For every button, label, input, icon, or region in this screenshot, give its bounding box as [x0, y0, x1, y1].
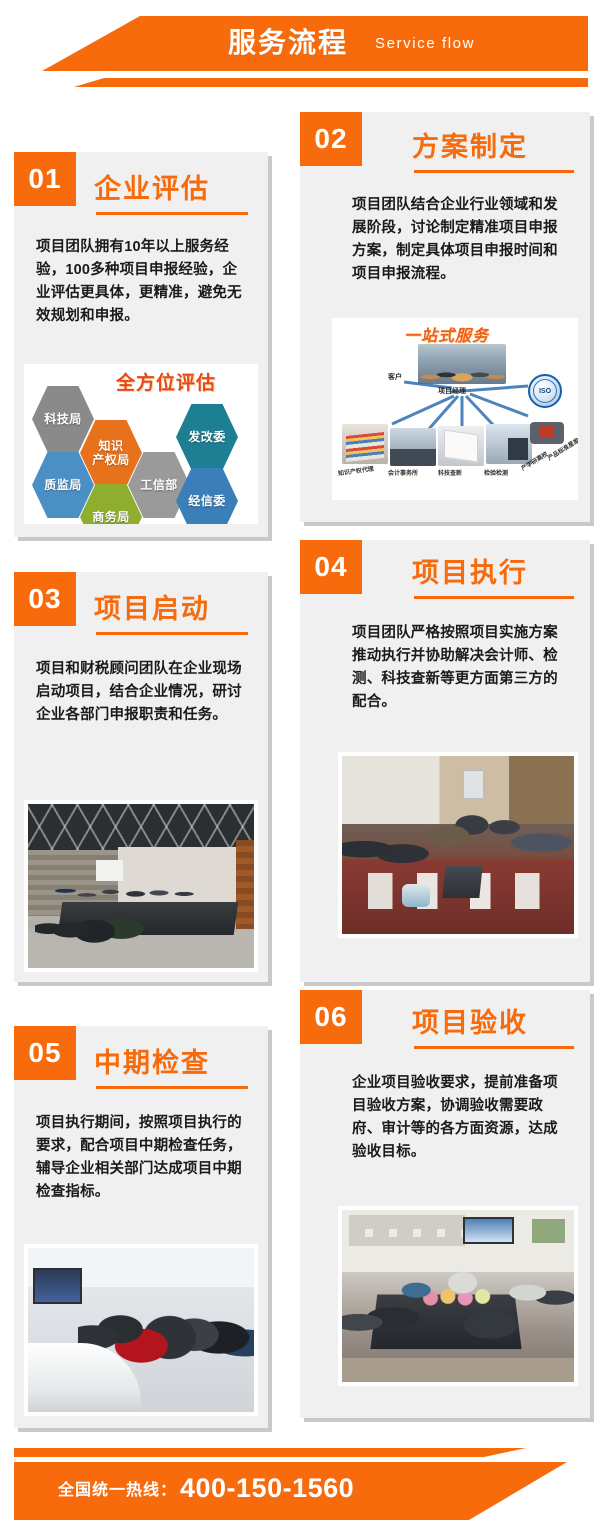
footer-accent-line: [14, 1448, 605, 1457]
one-stop-photo-testing: [486, 424, 532, 464]
hex-node-fagaiwei: 发改委: [176, 404, 238, 470]
card-06-number: 06: [300, 990, 362, 1044]
working-meeting-photo: [342, 756, 574, 934]
card-04-title-rule: [414, 596, 574, 599]
hex-diagram: 全方位评估 科技局 知识 产权局 质监局 工信部 商务局 发改委 经信委: [24, 364, 258, 524]
one-stop-label-search: 科技查新: [438, 470, 462, 478]
page-footer: 全国统一热线： 400-150-1560: [0, 1414, 605, 1538]
card-04-number: 04: [300, 540, 362, 594]
hotline-label: 全国统一热线：: [58, 1474, 177, 1508]
card-06[interactable]: 项目验收 企业项目验收要求，提前准备项目验收方案，协调验收需要政府、审计等的各方…: [300, 990, 590, 1418]
card-06-title: 项目验收: [412, 1006, 528, 1040]
hex-diagram-title: 全方位评估: [116, 372, 216, 396]
card-04-body: 项目团队严格按照项目实施方案推动执行并协助解决会计师、检测、科技查新等更方面第三…: [352, 622, 570, 714]
card-05[interactable]: 中期检查 项目执行期间，按照项目执行的要求，配合项目中期检查任务，辅导企业相关部…: [14, 1026, 268, 1428]
card-03-title: 项目启动: [94, 592, 210, 626]
card-06-body: 企业项目验收要求，提前准备项目验收方案，协调验收需要政府、审计等的各方面资源，达…: [352, 1072, 570, 1164]
card-01-title-rule: [96, 212, 248, 215]
card-05-body: 项目执行期间，按照项目执行的要求，配合项目中期检查任务，辅导企业相关部门达成项目…: [36, 1112, 248, 1204]
card-03-title-rule: [96, 632, 248, 635]
card-03-body: 项目和财税顾问团队在企业现场启动项目，结合企业情况，研讨企业各部门申报职责和任务…: [36, 658, 248, 727]
one-stop-node-customer: 客户: [388, 372, 402, 382]
page-title: 服务流程: [228, 24, 348, 62]
card-02-title: 方案制定: [412, 130, 528, 164]
card-05-title-rule: [96, 1086, 248, 1089]
conference-photo: [342, 1210, 574, 1382]
one-stop-photo-accounting: [390, 428, 436, 466]
one-stop-label-testing: 检验检测: [484, 470, 508, 478]
card-03-number: 03: [14, 572, 76, 626]
card-01[interactable]: 企业评估 项目团队拥有10年以上服务经验，100多种项目申报经验，企业评估更具体…: [14, 152, 268, 537]
card-05-number: 05: [14, 1026, 76, 1080]
card-05-photo-frame: [24, 1244, 258, 1416]
one-stop-label-accounting: 会计事务所: [388, 470, 418, 478]
infographic-page: 服务流程 Service flow 企业评估 项目团队拥有10年以上服务经验，1…: [0, 0, 605, 1538]
card-01-body: 项目团队拥有10年以上服务经验，100多种项目申报经验，企业评估更具体，更精准，…: [36, 236, 248, 328]
hex-node-kejiju: 科技局: [32, 386, 94, 452]
service-counter-photo: [28, 1248, 254, 1412]
card-02[interactable]: 方案制定 项目团队结合企业行业领域和发展阶段，讨论制定精准项目申报方案，制定具体…: [300, 112, 590, 522]
card-01-number: 01: [14, 152, 76, 206]
card-04-photo-frame: [338, 752, 578, 938]
card-02-body: 项目团队结合企业行业领域和发展阶段，讨论制定精准项目申报方案，制定具体项目申报时…: [352, 194, 570, 286]
one-stop-photo-university: [528, 416, 566, 450]
card-06-photo-frame: [338, 1206, 578, 1386]
one-stop-photo-ip: [342, 424, 388, 464]
meeting-room-photo: [28, 804, 254, 968]
one-stop-diagram: 一站式服务 客户 项目经理: [332, 318, 578, 500]
iso-seal-icon: ISO: [528, 374, 562, 408]
card-02-title-rule: [414, 170, 574, 173]
card-03[interactable]: 项目启动 项目和财税顾问团队在企业现场启动项目，结合企业情况，研讨企业各部门申报…: [14, 572, 268, 982]
header-accent-line: [0, 78, 588, 87]
hotline-number[interactable]: 400-150-1560: [180, 1468, 354, 1508]
page-header: 服务流程 Service flow: [0, 0, 605, 112]
card-06-title-rule: [414, 1046, 574, 1049]
card-04-title: 项目执行: [412, 556, 528, 590]
page-subtitle: Service flow: [375, 34, 475, 54]
card-05-title: 中期检查: [94, 1046, 210, 1080]
card-02-number: 02: [300, 112, 362, 166]
card-04[interactable]: 项目执行 项目团队严格按照项目实施方案推动执行并协助解决会计师、检测、科技查新等…: [300, 540, 590, 982]
one-stop-node-manager: 项目经理: [438, 386, 466, 396]
card-01-title: 企业评估: [94, 172, 210, 206]
one-stop-photo-search: [438, 426, 484, 466]
card-03-photo-frame: [24, 800, 258, 972]
